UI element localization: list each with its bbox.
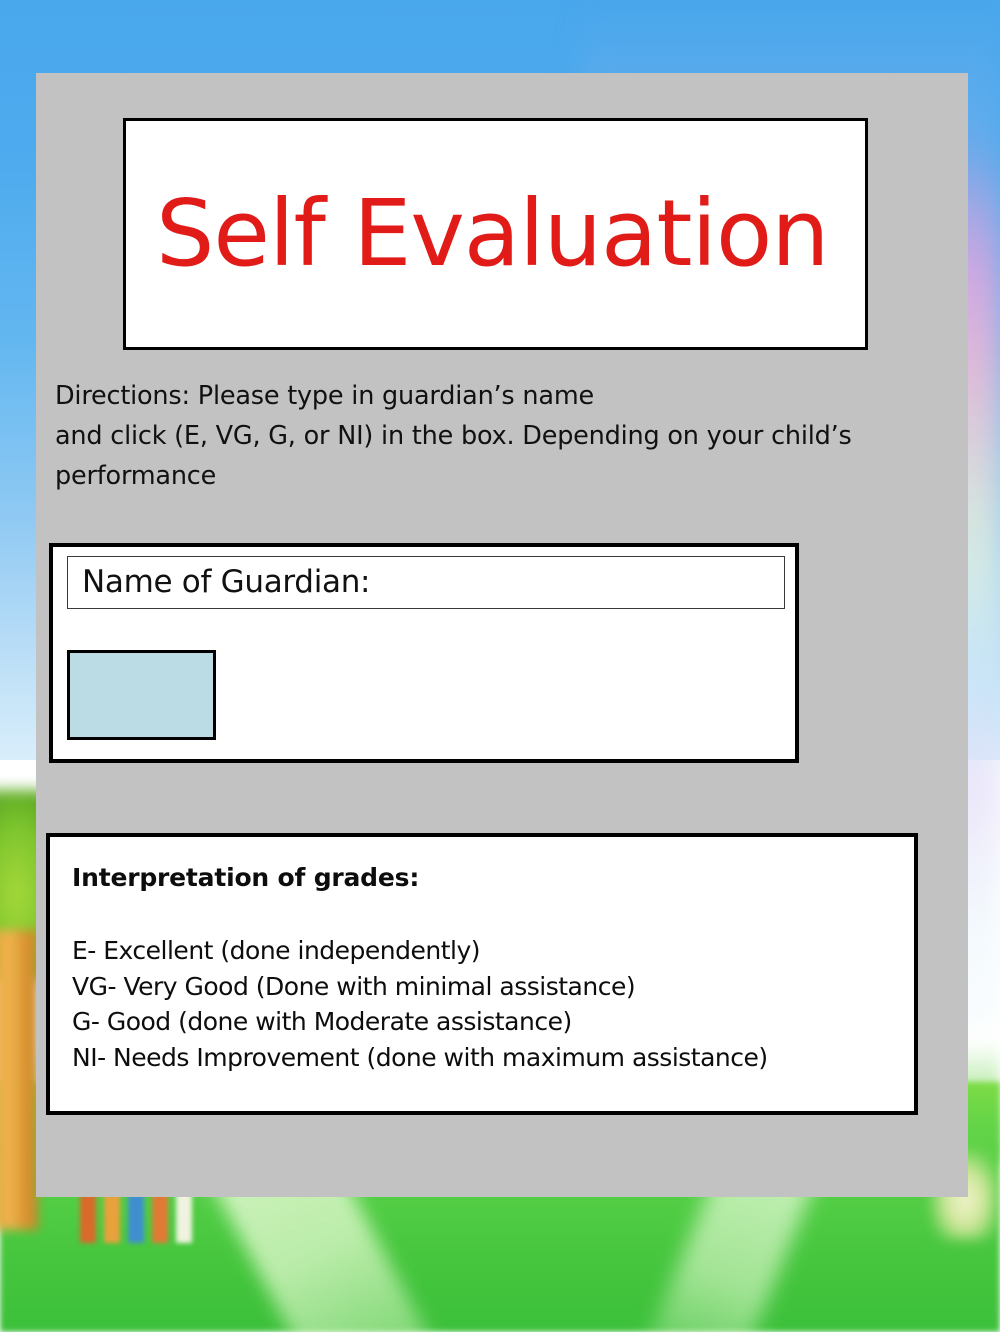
directions-line-2: and click (E, VG, G, or NI) in the box. … — [55, 416, 945, 456]
interpretation-line: VG- Very Good (Done with minimal assista… — [72, 969, 914, 1005]
interpretation-box: Interpretation of grades: E- Excellent (… — [46, 833, 918, 1115]
directions-text: Directions: Please type in guardian’s na… — [55, 376, 945, 496]
interpretation-line: NI- Needs Improvement (done with maximum… — [72, 1040, 914, 1076]
worksheet-page: Self Evaluation Directions: Please type … — [0, 0, 1000, 1332]
tree-trunk-icon — [0, 930, 38, 1230]
interpretation-list: E- Excellent (done independently) VG- Ve… — [72, 933, 914, 1075]
grade-input[interactable] — [67, 650, 216, 740]
guardian-entry-box: Name of Guardian: — [49, 543, 799, 763]
slide-panel: Self Evaluation Directions: Please type … — [36, 73, 968, 1197]
guardian-name-input[interactable]: Name of Guardian: — [67, 556, 785, 609]
interpretation-heading: Interpretation of grades: — [72, 863, 914, 893]
page-title: Self Evaluation — [126, 188, 829, 280]
guardian-name-label: Name of Guardian: — [68, 567, 370, 598]
interpretation-line: E- Excellent (done independently) — [72, 933, 914, 969]
directions-line-1: Directions: Please type in guardian’s na… — [55, 376, 945, 416]
title-box: Self Evaluation — [123, 118, 868, 350]
interpretation-line: G- Good (done with Moderate assistance) — [72, 1004, 914, 1040]
directions-line-3: performance — [55, 456, 945, 496]
